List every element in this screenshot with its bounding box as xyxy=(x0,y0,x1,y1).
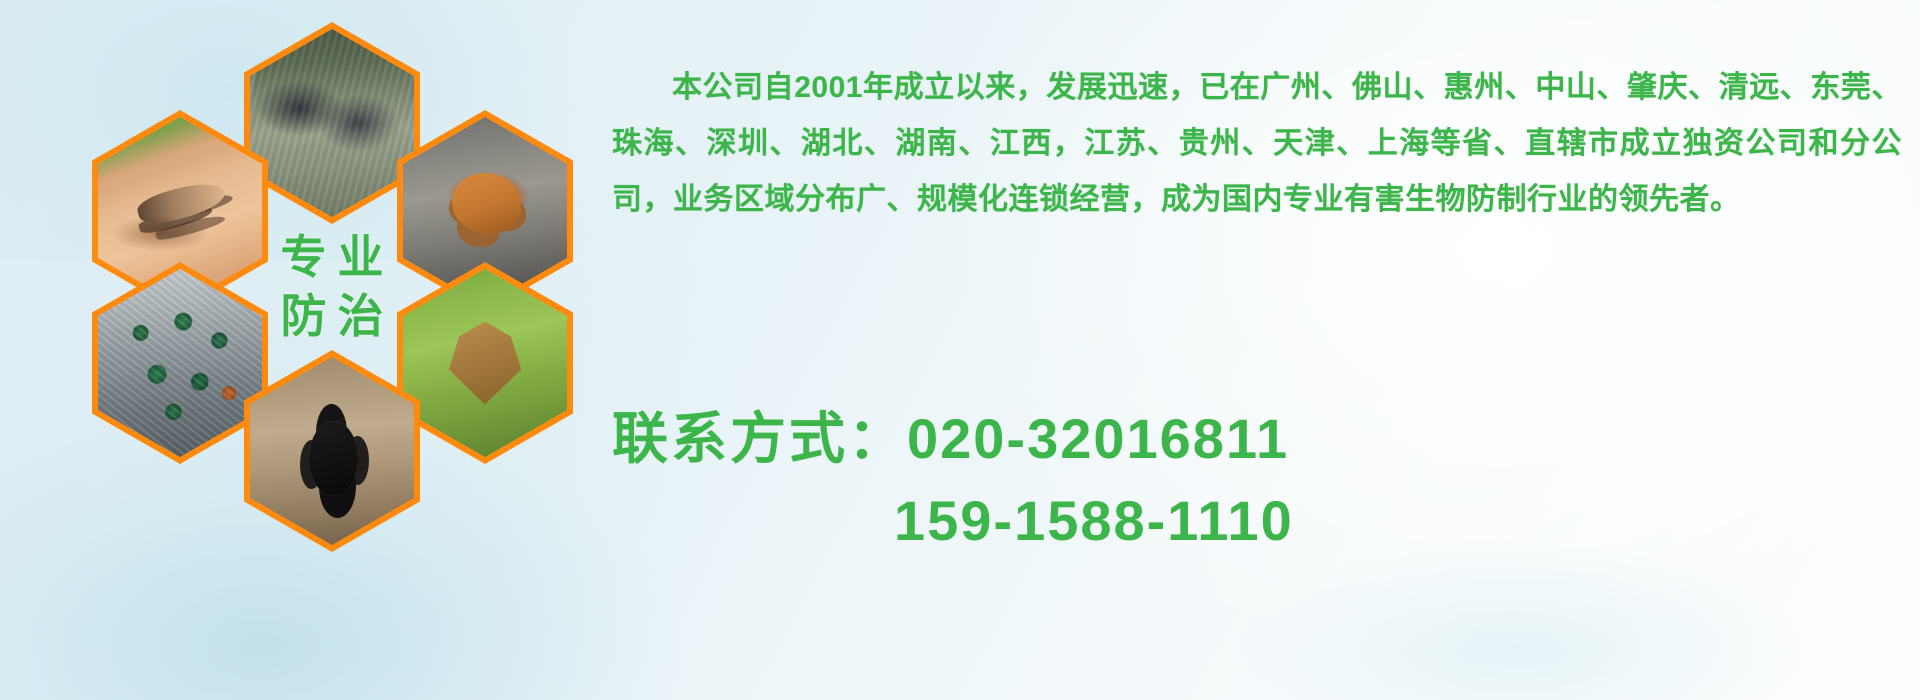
hex-photo-flies xyxy=(98,269,262,457)
hex-cell-slogan: 专业 防治 xyxy=(244,186,420,388)
hexagon-photo-cluster: 专业 防治 xyxy=(92,8,592,568)
intro-paragraph: 本公司自2001年成立以来，发展迅速，已在广州、佛山、惠州、中山、肇庆、清远、东… xyxy=(612,60,1902,228)
contact-line-primary: 联系方式：020-32016811 xyxy=(612,398,1902,480)
promo-banner: 专业 防治 本公司自2001年成立以来，发展迅速，已在广州、佛山、惠州、中山、肇… xyxy=(0,0,1920,700)
hex-cell-flies xyxy=(92,262,268,464)
slogan-line-1: 专业 xyxy=(270,228,395,287)
background-haze-bottom-right xyxy=(1240,540,1800,700)
contact-phone-primary[interactable]: 020-32016811 xyxy=(907,407,1289,470)
intro-copy-block: 本公司自2001年成立以来，发展迅速，已在广州、佛山、惠州、中山、肇庆、清远、东… xyxy=(612,30,1892,258)
flies-photo-icon xyxy=(98,269,262,457)
stink-bug-photo-icon xyxy=(403,269,567,457)
slogan-line-2: 防治 xyxy=(270,287,395,346)
contact-phone-secondary[interactable]: 159-1588-1110 xyxy=(894,489,1294,552)
contact-block: 联系方式：020-32016811 159-1588-1110 xyxy=(612,398,1902,562)
hex-cell-stink-bug xyxy=(397,262,573,464)
contact-line-secondary: 159-1588-1110 xyxy=(612,480,1902,562)
hex-photo-stink-bug xyxy=(403,269,567,457)
contact-label: 联系方式： xyxy=(612,407,907,470)
